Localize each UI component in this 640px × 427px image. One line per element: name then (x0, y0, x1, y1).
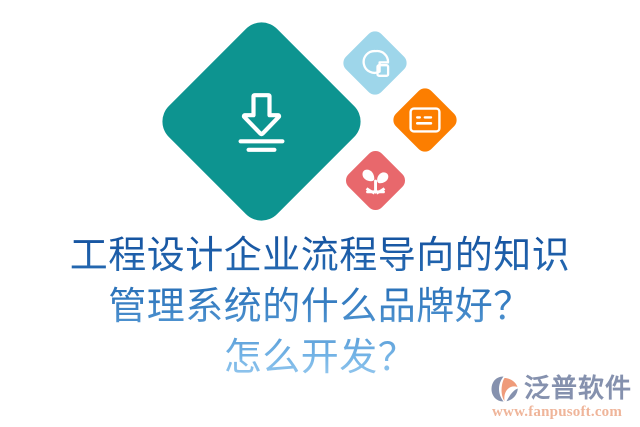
brand-lockup: 泛普软件 (490, 373, 632, 405)
headline-line-2: 管理系统的什么品牌好？ (0, 282, 640, 333)
diamond-small-red (342, 147, 408, 213)
download-icon (228, 91, 296, 153)
diamond-main-teal (153, 13, 369, 229)
diamond-icon-cluster (0, 0, 640, 235)
fanpu-logo-icon (490, 375, 520, 403)
brand-name: 泛普软件 (524, 375, 632, 403)
banner-headline: 工程设计企业流程导向的知识 管理系统的什么品牌好？ 怎么开发？ (0, 231, 640, 384)
card-window-icon (409, 107, 441, 133)
brand-watermark: 泛普软件 www.fanpusoft.com (490, 373, 632, 421)
diamond-small-blue (340, 28, 411, 99)
sprout-plant-icon (360, 165, 392, 197)
headline-line-1: 工程设计企业流程导向的知识 (0, 231, 640, 282)
brand-url: www.fanpusoft.com (492, 404, 632, 421)
diamond-small-orange (390, 85, 461, 156)
article-banner: 工程设计企业流程导向的知识 管理系统的什么品牌好？ 怎么开发？ 泛普软件 www… (0, 0, 640, 427)
pie-chart-icon (359, 47, 391, 79)
